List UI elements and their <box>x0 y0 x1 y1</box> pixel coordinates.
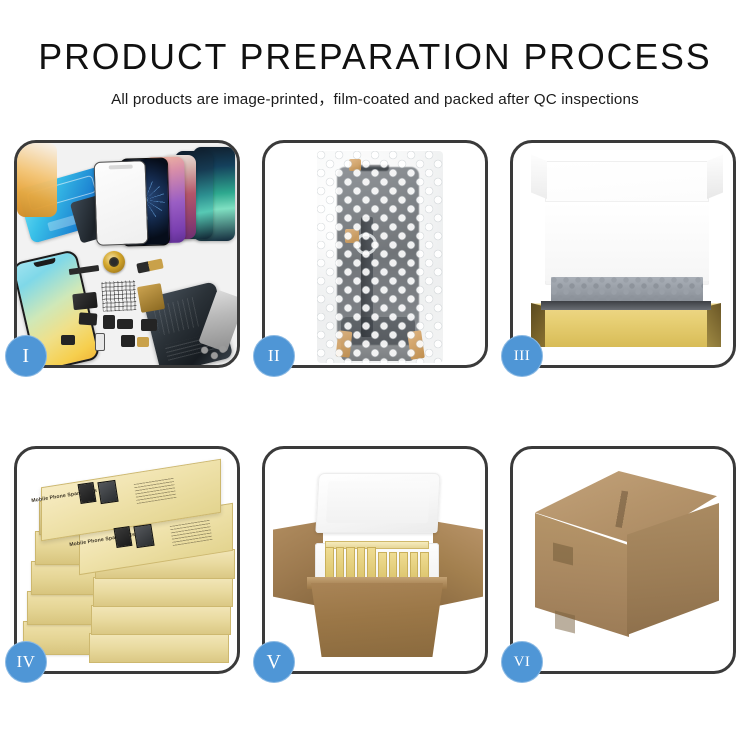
step-badge-2: II <box>253 335 295 377</box>
step-2-image <box>265 143 485 365</box>
bubble-texture <box>317 151 443 363</box>
step-4-image: Mobile Phone Spare Parts Mobile Phone Sp… <box>17 449 237 671</box>
small-part <box>72 292 98 310</box>
box-artwork-swatch <box>114 526 133 548</box>
flex-cable-part <box>136 258 164 273</box>
step-badge-3: III <box>501 335 543 377</box>
flex-cable-part <box>137 283 165 313</box>
step-6-image <box>513 449 733 671</box>
small-part <box>61 335 75 345</box>
step-badge-4: IV <box>5 641 47 683</box>
small-part <box>103 315 115 329</box>
box-artwork-swatch <box>78 482 97 504</box>
box-artwork-swatch <box>133 524 154 548</box>
small-part <box>79 312 98 325</box>
carton-with-cooler <box>273 465 483 663</box>
styrofoam-lid <box>315 473 440 533</box>
page-title: PRODUCT PREPARATION PROCESS <box>4 38 747 76</box>
process-step-panel-6[interactable]: VI <box>510 446 736 674</box>
notch <box>34 258 57 268</box>
sealed-shipping-carton <box>527 471 725 657</box>
speaker-coil-part <box>103 251 125 273</box>
box-tray-inner <box>541 301 711 310</box>
process-step-panel-2[interactable]: II <box>262 140 488 368</box>
box-lid-face <box>545 201 709 281</box>
box-slab-right <box>91 605 231 635</box>
stacked-retail-boxes: Mobile Phone Spare Parts Mobile Phone Sp… <box>23 467 237 663</box>
box-slab-right <box>89 633 229 663</box>
step-3-image <box>513 143 733 365</box>
step-badge-6: VI <box>501 641 543 683</box>
process-step-panel-3[interactable]: III <box>510 140 736 368</box>
tempered-glass-protector <box>94 160 149 246</box>
process-step-panel-4[interactable]: Mobile Phone Spare Parts Mobile Phone Sp… <box>14 446 240 674</box>
box-slab-right <box>93 577 233 607</box>
header: PRODUCT PREPARATION PROCESS All products… <box>0 0 750 109</box>
small-part <box>117 319 133 329</box>
small-part <box>141 319 157 331</box>
screws-group <box>199 343 227 361</box>
process-step-panel-1[interactable]: I <box>14 140 240 368</box>
small-part <box>121 335 135 347</box>
chip-grid-part <box>101 280 137 312</box>
phone-orange-back <box>17 143 57 217</box>
step-1-image <box>17 143 237 365</box>
box-artwork-swatch <box>97 480 118 504</box>
bubble-wrap-bag <box>317 151 443 363</box>
page-subtitle: All products are image-printed，film-coat… <box>0 87 750 109</box>
carton-body <box>311 583 443 657</box>
process-step-grid: I II <box>14 140 740 674</box>
step-5-image <box>265 449 485 671</box>
process-step-panel-5[interactable]: V <box>262 446 488 674</box>
step-badge-5: V <box>253 641 295 683</box>
step-badge-1: I <box>5 335 47 377</box>
small-part <box>95 333 105 351</box>
open-mailer-box <box>525 157 727 353</box>
tape-piece <box>555 611 575 634</box>
small-part <box>137 337 149 347</box>
